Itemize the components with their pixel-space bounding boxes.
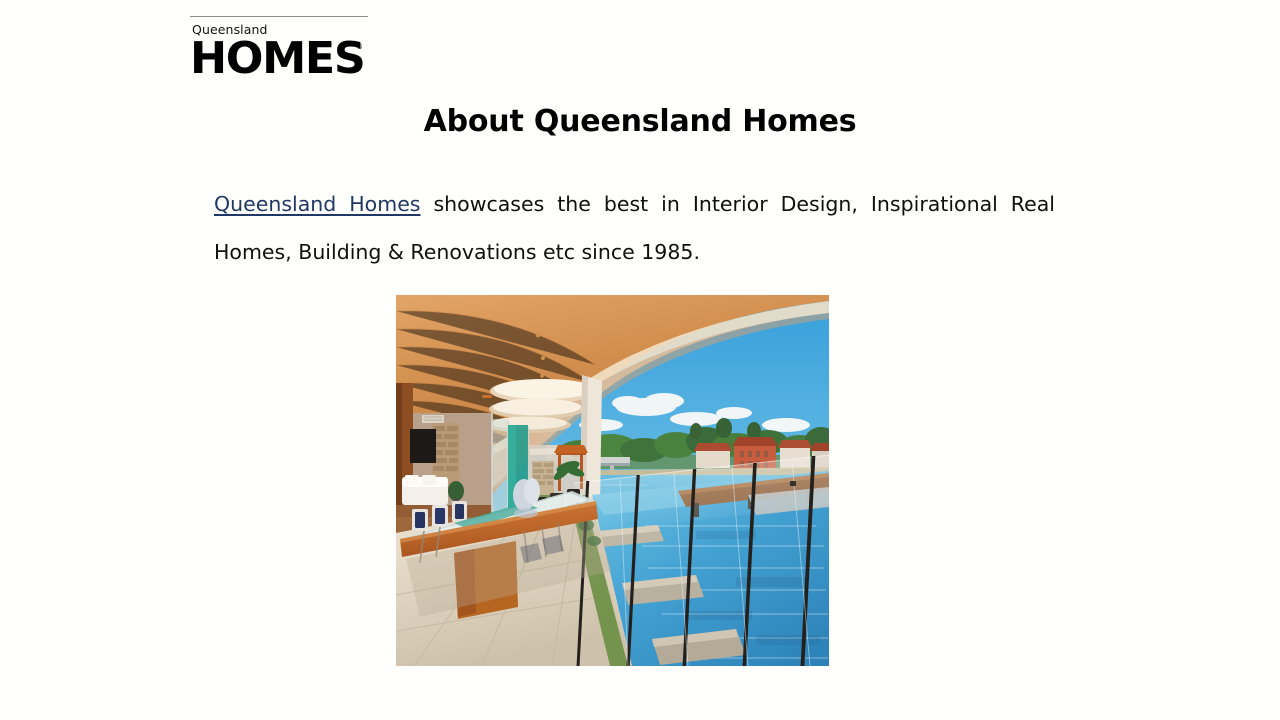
waterfront-home-photo-graphic <box>396 295 829 666</box>
logo-divider-rule <box>190 16 368 17</box>
page-title: About Queensland Homes <box>160 104 1120 139</box>
queensland-homes-logo[interactable]: Queensland HOMES ® <box>190 16 370 79</box>
registered-trademark-icon: ® <box>356 44 363 51</box>
queensland-homes-link[interactable]: Queensland Homes <box>214 192 421 216</box>
slide-root: Queensland HOMES ® About Queensland Home… <box>0 0 1280 720</box>
waterfront-home-photo <box>396 295 829 666</box>
logo-brand-large-wrap: HOMES ® <box>190 38 370 80</box>
logo-brand-large: HOMES <box>190 38 364 80</box>
body-paragraph: Queensland Homes showcases the best in I… <box>214 180 1055 276</box>
